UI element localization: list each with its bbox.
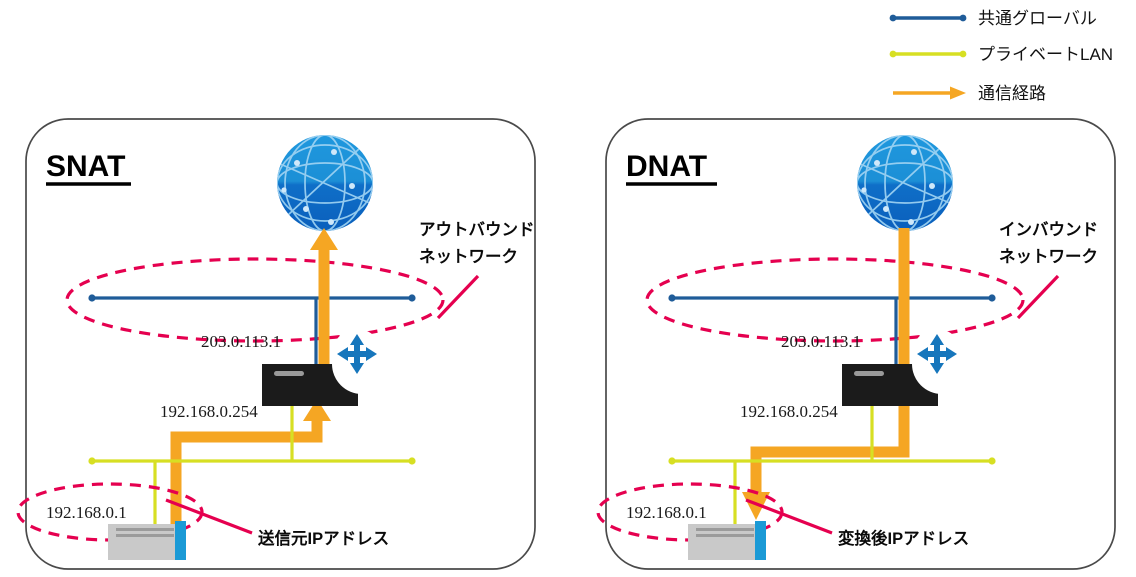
blue-line-icon (890, 15, 967, 22)
four-way-arrow-icon (912, 329, 962, 379)
four-way-arrow-icon (332, 329, 382, 379)
callout-label: 変換後IPアドレス (838, 528, 969, 548)
globe-icon (857, 135, 953, 231)
callout-line-1: インバウンド (999, 220, 1098, 239)
server-pc-icon (688, 521, 766, 560)
legend-item-label: 共通グローバル (978, 9, 1097, 28)
panel-dnat: DNAT (598, 119, 1115, 569)
globe-icon (277, 135, 373, 231)
diagram-canvas: 共通グローバル プライベートLAN 通信経路 SNAT (0, 0, 1136, 577)
yellow-line-icon (890, 51, 967, 58)
host-ip-label: 192.168.0.1 (626, 503, 707, 522)
legend-item-0: 共通グローバル (890, 9, 1097, 28)
server-pc-icon (108, 521, 186, 560)
callout-line-2: ネットワーク (999, 247, 1098, 266)
legend-item-2: 通信経路 (893, 84, 1046, 103)
legend-item-label: プライベートLAN (978, 45, 1113, 64)
legend-item-label: 通信経路 (978, 84, 1046, 103)
panel-snat: SNAT (18, 119, 535, 569)
router-lan-ip-label: 192.168.0.254 (740, 402, 838, 421)
legend: 共通グローバル プライベートLAN 通信経路 (890, 9, 1113, 103)
router-lan-ip-label: 192.168.0.254 (160, 402, 258, 421)
orange-arrow-icon (893, 87, 966, 100)
host-ip-label: 192.168.0.1 (46, 503, 127, 522)
callout-line-1: アウトバウンド (419, 220, 535, 239)
page-title: SNAT (46, 150, 125, 183)
snat-dnat-diagram: 共通グローバル プライベートLAN 通信経路 SNAT (0, 0, 1136, 577)
callout-label: 送信元IPアドレス (258, 528, 389, 548)
global-ip-label: 203.0.113.1 (781, 332, 861, 351)
page-title: DNAT (626, 150, 707, 183)
callout-line-2: ネットワーク (419, 247, 518, 266)
global-ip-label: 203.0.113.1 (201, 332, 281, 351)
legend-item-1: プライベートLAN (890, 45, 1113, 64)
